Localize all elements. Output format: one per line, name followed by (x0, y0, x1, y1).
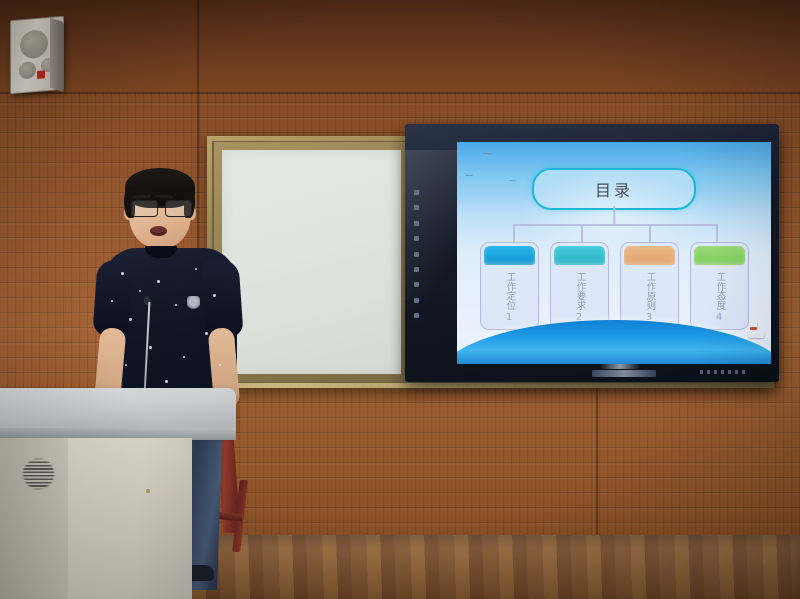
display-button[interactable] (414, 282, 419, 287)
display-button[interactable] (414, 267, 419, 272)
slide-title-pill: 目录 (532, 168, 696, 210)
podium-vent-grille (22, 458, 55, 490)
card-color-cap (554, 246, 605, 265)
display-button[interactable] (414, 190, 419, 195)
presenter-mouth (150, 226, 167, 236)
display-button[interactable] (414, 205, 419, 210)
seagull-icon: ⁓ (465, 172, 473, 180)
card-color-cap (624, 246, 675, 265)
display-button[interactable] (414, 221, 419, 226)
display-vent-grille (700, 370, 746, 374)
speaker-midrange-icon (19, 61, 36, 79)
presentation-room-scene: ⁓ ⁓ ⁓ ⁓ 目录 工作定位 1 工作要求 2 (0, 0, 800, 599)
agenda-card-2[interactable]: 工作要求 2 (550, 242, 609, 330)
presentation-slide: ⁓ ⁓ ⁓ ⁓ 目录 工作定位 1 工作要求 2 (457, 142, 771, 364)
glasses-lens-right (165, 200, 192, 217)
connector-drop-2 (581, 224, 583, 244)
display-button[interactable] (414, 313, 419, 318)
agenda-card-number: 4 (691, 312, 748, 323)
wall-seam-horizontal (0, 92, 800, 94)
display-button-strip[interactable] (412, 190, 421, 318)
display-button[interactable] (414, 236, 419, 241)
wall-speaker-side (50, 18, 64, 93)
agenda-card-row: 工作定位 1 工作要求 2 工作原则 3 工作态度 4 (457, 242, 771, 332)
agenda-card-label: 工作原则 (644, 268, 655, 314)
ship-icon (748, 330, 765, 338)
agenda-card-4[interactable]: 工作态度 4 (690, 242, 749, 330)
wall-upper-band (0, 0, 800, 92)
agenda-card-number: 1 (481, 312, 538, 323)
glasses-lens-left (131, 200, 158, 217)
seagull-icon: ⁓ (509, 178, 516, 185)
presenter-sleeve-left (92, 259, 133, 337)
connector-drop-1 (513, 224, 515, 244)
card-color-cap (694, 246, 745, 265)
agenda-card-label: 工作态度 (714, 268, 725, 314)
skull-icon (187, 296, 200, 311)
connector-drop-3 (649, 224, 651, 244)
connector-bus (513, 224, 717, 226)
agenda-card-1[interactable]: 工作定位 1 (480, 242, 539, 330)
display-button[interactable] (414, 252, 419, 257)
connector-stem (613, 206, 615, 225)
connector-drop-4 (716, 224, 718, 244)
agenda-card-label: 工作定位 (504, 268, 515, 314)
agenda-card-3[interactable]: 工作原则 3 (620, 242, 679, 330)
podium-lock-icon[interactable] (146, 489, 150, 493)
slide-title: 目录 (595, 177, 633, 201)
speaker-brand-badge (37, 70, 45, 79)
display-port-panel[interactable] (592, 370, 656, 377)
card-color-cap (484, 246, 535, 265)
glasses-icon (130, 200, 191, 215)
glasses-bridge (156, 206, 165, 208)
speaker-woofer-icon (20, 29, 48, 59)
seagull-icon: ⁓ (482, 149, 493, 160)
agenda-card-label: 工作要求 (574, 268, 585, 314)
presenter (95, 168, 247, 418)
whiteboard-surface[interactable] (222, 150, 401, 374)
display-button[interactable] (414, 298, 419, 303)
